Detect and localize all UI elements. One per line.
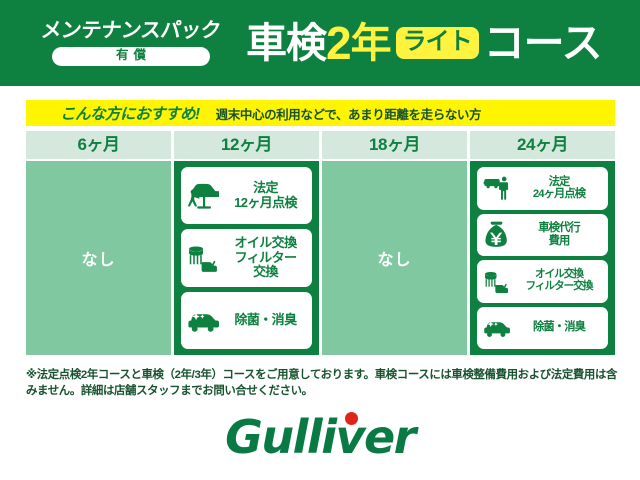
service-item-label: 法定 12ヶ月点検 (223, 181, 308, 210)
course-title-shaken: 車検 (246, 23, 326, 64)
service-item-label: 除菌・消臭 (514, 321, 604, 334)
column-header: 12ヶ月 (174, 131, 319, 159)
service-item-label: 車検代行 費用 (514, 222, 604, 247)
service-item-card: オイル交換 フィルター交換 (477, 260, 608, 303)
recommendation-title: こんな方におすすめ! (60, 102, 200, 124)
service-item-label: 法定 24ヶ月点検 (514, 176, 604, 201)
recommendation-banner: こんな方におすすめ! 週末中心の利用などで、あまり距離を走らない方 (26, 100, 615, 126)
course-title-number: 2 (326, 20, 351, 66)
column-header: 18ヶ月 (322, 131, 467, 159)
maintenance-pack-badge-group: メンテナンスパック 有償 (22, 20, 240, 65)
car-sanitize-icon (483, 317, 510, 338)
table-column-12ヶ月: 12ヶ月法定 12ヶ月点検オイル交換 フィルター 交換除菌・消臭 (174, 131, 319, 355)
column-header: 24ヶ月 (470, 131, 615, 159)
footnote-disclaimer: ※法定点検2年コースと車検（2年/3年）コースをご用意しております。車検コースに… (26, 367, 620, 399)
table-column-18ヶ月: 18ヶ月なし (322, 131, 467, 355)
service-item-card: 法定 24ヶ月点検 (477, 167, 608, 210)
car-sanitize-icon (187, 308, 219, 333)
service-item-label: 除菌・消臭 (223, 313, 308, 328)
none-label: なし (377, 246, 411, 270)
column-empty-cell: なし (322, 161, 467, 355)
service-item-card: 除菌・消臭 (181, 292, 312, 349)
car-lift-inspection-icon (187, 180, 219, 211)
service-item-label: オイル交換 フィルター交換 (514, 269, 604, 293)
service-item-card: 除菌・消臭 (477, 307, 608, 350)
light-course-badge: ライト (396, 27, 479, 59)
service-item-card: 車検代行 費用 (477, 214, 608, 257)
recommendation-subtitle: 週末中心の利用などで、あまり距離を走らない方 (216, 104, 481, 123)
brand-logo-label: Gulliver (225, 410, 415, 464)
service-item-card: オイル交換 フィルター 交換 (181, 229, 312, 286)
course-title-course: コース (484, 23, 602, 64)
paid-service-pill: 有償 (52, 47, 210, 66)
brand-logo-text: Gulliver (225, 410, 415, 464)
column-items-cell: 法定 24ヶ月点検車検代行 費用オイル交換 フィルター交換除菌・消臭 (470, 161, 615, 355)
promo-header-bar: メンテナンスパック 有償 車検 2 年 ライト コース (0, 0, 640, 86)
column-empty-cell: なし (26, 161, 171, 355)
service-item-label: オイル交換 フィルター 交換 (223, 236, 308, 280)
column-items-cell: 法定 12ヶ月点検オイル交換 フィルター 交換除菌・消臭 (174, 161, 319, 355)
maintenance-pack-title: メンテナンスパック (40, 20, 222, 42)
oil-filter-change-icon (483, 270, 510, 293)
brand-logo: Gulliver (0, 410, 640, 464)
table-column-24ヶ月: 24ヶ月法定 24ヶ月点検車検代行 費用オイル交換 フィルター交換除菌・消臭 (470, 131, 615, 355)
column-header: 6ヶ月 (26, 131, 171, 159)
none-label: なし (81, 246, 115, 270)
course-title-year: 年 (351, 23, 391, 64)
car-inspector-icon (483, 175, 510, 201)
course-title-group: 車検 2 年 ライト コース (246, 20, 640, 66)
oil-filter-change-icon (187, 244, 219, 272)
money-bag-yen-icon (483, 220, 510, 250)
maintenance-schedule-table: 6ヶ月なし12ヶ月法定 12ヶ月点検オイル交換 フィルター 交換除菌・消臭18ヶ… (26, 131, 615, 355)
table-column-6ヶ月: 6ヶ月なし (26, 131, 171, 355)
service-item-card: 法定 12ヶ月点検 (181, 167, 312, 224)
